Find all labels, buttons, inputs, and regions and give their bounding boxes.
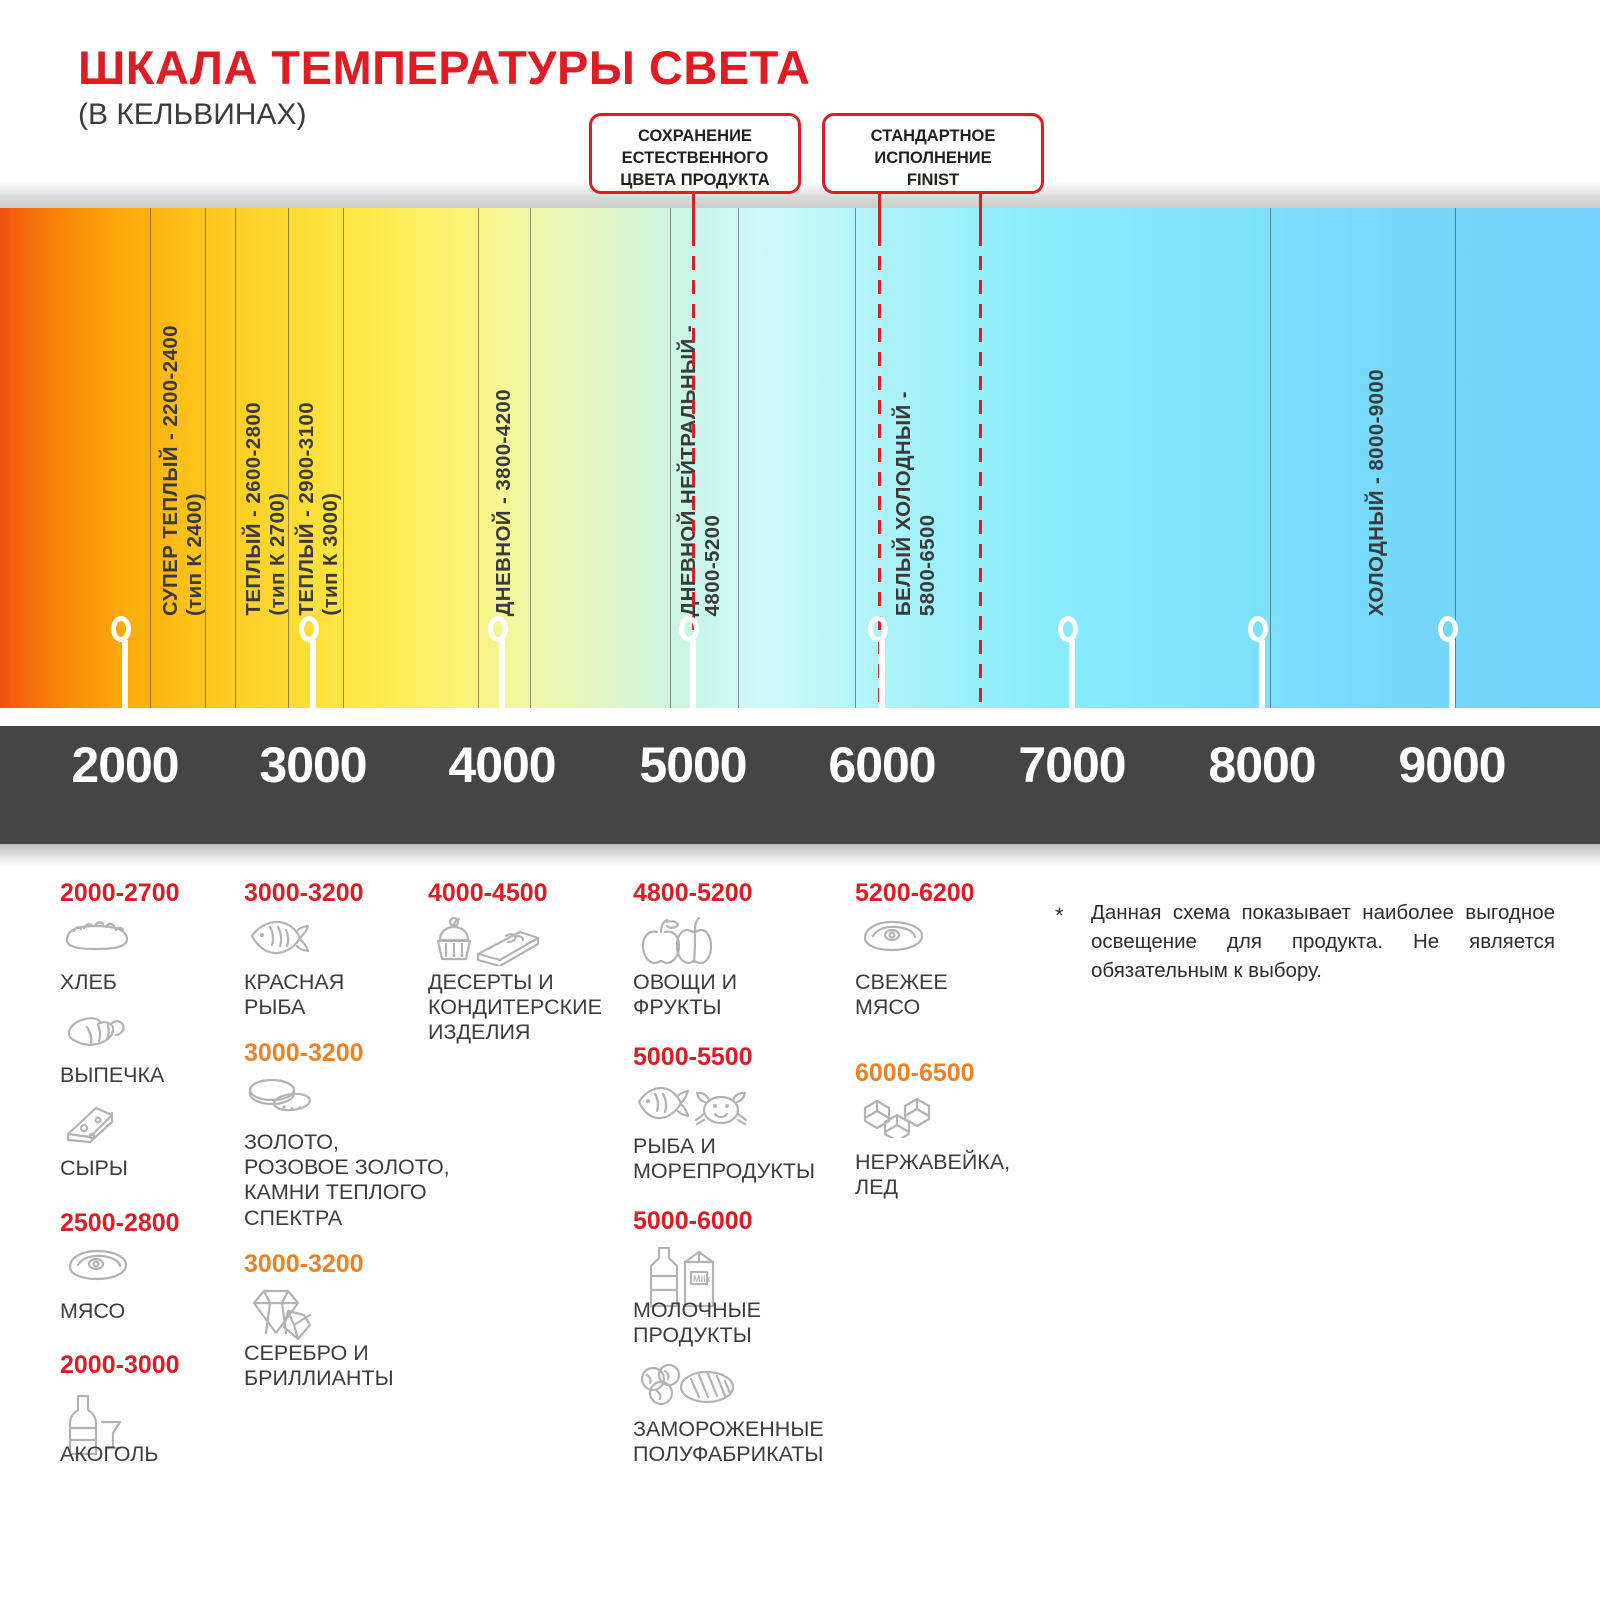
legend-item-label: СЕРЕБРО И БРИЛЛИАНТЫ bbox=[244, 1341, 484, 1392]
footnote-text: Данная схема показывает наиболее выгодно… bbox=[1091, 898, 1555, 985]
legend-item-label: ЗОЛОТО, РОЗОВОЕ ЗОЛОТО, КАМНИ ТЕПЛОГО СП… bbox=[244, 1130, 484, 1231]
legend-group: 4800-5200ОВОЩИ И ФРУКТЫ bbox=[633, 880, 858, 1020]
legend-group: 3000-3200ЗОЛОТО, РОЗОВОЕ ЗОЛОТО, КАМНИ Т… bbox=[244, 1040, 484, 1231]
page-subtitle: (В КЕЛЬВИНАХ) bbox=[78, 98, 306, 132]
legend-item-label: МЯСО bbox=[60, 1299, 235, 1324]
legend-item: ОВОЩИ И ФРУКТЫ bbox=[633, 914, 858, 1021]
tick-label: 9000 bbox=[1398, 736, 1505, 794]
tick-label: 4000 bbox=[448, 736, 555, 794]
legend-group: 5000-6000MilkМОЛОЧНЫЕ ПРОДУКТЫЗАМОРОЖЕНН… bbox=[633, 1208, 858, 1467]
tick-stem bbox=[122, 640, 128, 726]
tick-stem bbox=[1449, 640, 1455, 726]
band-divider-9 bbox=[855, 208, 856, 708]
legend-item: ХЛЕБ bbox=[60, 914, 235, 995]
range-label: 6000-6500 bbox=[855, 1060, 1050, 1088]
frozen-food-icon bbox=[633, 1361, 858, 1413]
tick-stem bbox=[1069, 640, 1075, 726]
column-3: 4000-4500ДЕСЕРТЫ И КОНДИТЕРСКИЕ ИЗДЕЛИЯ bbox=[428, 880, 633, 1058]
band-label-0: СУПЕР ТЕПЛЫЙ - 2200-2400 (тип К 2400) bbox=[159, 325, 207, 616]
legend-item: MilkМОЛОЧНЫЕ ПРОДУКТЫ bbox=[633, 1242, 858, 1349]
callout-line: ЦВЕТА ПРОДУКТА bbox=[606, 170, 784, 192]
tick-label: 8000 bbox=[1208, 736, 1315, 794]
footnote-marker: * bbox=[1055, 900, 1064, 931]
tick-circle bbox=[299, 616, 319, 642]
desserts-icon bbox=[428, 914, 633, 966]
callout-stem-1 bbox=[878, 194, 881, 242]
range-label: 5000-6000 bbox=[633, 1208, 858, 1236]
range-label: 2500-2800 bbox=[60, 1210, 235, 1238]
legend-item: ЗОЛОТО, РОЗОВОЕ ЗОЛОТО, КАМНИ ТЕПЛОГО СП… bbox=[244, 1074, 484, 1231]
range-label: 4000-4500 bbox=[428, 880, 633, 908]
tick-circle bbox=[868, 616, 888, 642]
footnote: * Данная схема показывает наиболее выгод… bbox=[1055, 898, 1555, 985]
seafood-icon bbox=[633, 1078, 858, 1130]
legend-group: 2000-3000АКОГОЛЬ bbox=[60, 1352, 235, 1467]
legend-item: НЕРЖАВЕЙКА, ЛЕД bbox=[855, 1094, 1050, 1201]
band-label-4: ДНЕВНОЙ НЕЙТРАЛЬНЫЙ - 4800-5200 bbox=[677, 325, 725, 616]
legend-group: 6000-6500НЕРЖАВЕЙКА, ЛЕД bbox=[855, 1060, 1050, 1200]
tick-stem bbox=[310, 640, 316, 726]
band-divider-2 bbox=[235, 208, 236, 708]
legend-item: ДЕСЕРТЫ И КОНДИТЕРСКИЕ ИЗДЕЛИЯ bbox=[428, 914, 633, 1046]
bread-icon bbox=[60, 914, 235, 966]
range-label: 5200-6200 bbox=[855, 880, 1050, 908]
legend-item-label: ВЫПЕЧКА bbox=[60, 1063, 235, 1088]
dairy-icon: Milk bbox=[633, 1242, 858, 1294]
callout-line: СТАНДАРТНОЕ bbox=[839, 126, 1027, 148]
tick-label: 6000 bbox=[828, 736, 935, 794]
legend-group: 3000-3200СЕРЕБРО И БРИЛЛИАНТЫ bbox=[244, 1251, 484, 1391]
product-legend: 2000-2700ХЛЕБВЫПЕЧКАСЫРЫ2500-2800МЯСО200… bbox=[0, 880, 1600, 1600]
callout-line: СОХРАНЕНИЕ bbox=[606, 126, 784, 148]
band-divider-8 bbox=[738, 208, 739, 708]
legend-item: СЫРЫ bbox=[60, 1100, 235, 1181]
range-label: 5000-5500 bbox=[633, 1044, 858, 1072]
callout-line: ЕСТЕСТВЕННОГО bbox=[606, 148, 784, 170]
tick-label: 2000 bbox=[71, 736, 178, 794]
tick-label: 3000 bbox=[259, 736, 366, 794]
ice-cubes-icon bbox=[855, 1094, 1050, 1146]
legend-item: СЕРЕБРО И БРИЛЛИАНТЫ bbox=[244, 1285, 484, 1392]
legend-item-label: СВЕЖЕЕ МЯСО bbox=[855, 970, 1050, 1021]
band-divider-5 bbox=[478, 208, 479, 708]
legend-item-label: СЫРЫ bbox=[60, 1156, 235, 1181]
legend-group: 5200-6200СВЕЖЕЕ МЯСО bbox=[855, 880, 1050, 1020]
band-divider-0 bbox=[150, 208, 151, 708]
band-divider-6 bbox=[530, 208, 531, 708]
legend-item-label: ДЕСЕРТЫ И КОНДИТЕРСКИЕ ИЗДЕЛИЯ bbox=[428, 970, 633, 1046]
legend-item: МЯСО bbox=[60, 1243, 235, 1324]
legend-group: 4000-4500ДЕСЕРТЫ И КОНДИТЕРСКИЕ ИЗДЕЛИЯ bbox=[428, 880, 633, 1046]
legend-group: 5000-5500РЫБА И МОРЕПРОДУКТЫ bbox=[633, 1044, 858, 1184]
fruits-vegetables-icon bbox=[633, 914, 858, 966]
legend-group: 2000-2700ХЛЕБВЫПЕЧКАСЫРЫ bbox=[60, 880, 235, 1182]
column-1: 2000-2700ХЛЕБВЫПЕЧКАСЫРЫ2500-2800МЯСО200… bbox=[60, 880, 235, 1479]
band-divider-7 bbox=[670, 208, 671, 708]
legend-group: 2500-2800МЯСО bbox=[60, 1210, 235, 1325]
legend-item-label: ОВОЩИ И ФРУКТЫ bbox=[633, 970, 858, 1021]
tick-circle bbox=[1248, 616, 1268, 642]
tick-circle bbox=[488, 616, 508, 642]
alcohol-icon bbox=[60, 1386, 235, 1438]
callout-stem-2 bbox=[979, 194, 982, 242]
legend-item: СВЕЖЕЕ МЯСО bbox=[855, 914, 1050, 1021]
tick-stem bbox=[1259, 640, 1265, 726]
band-label-5: БЕЛЫЙ ХОЛОДНЫЙ - 5800-6500 bbox=[892, 391, 940, 616]
band-label-3: ДНЕВНОЙ - 3800-4200 bbox=[492, 389, 516, 616]
axis-bottom-shadow bbox=[0, 844, 1600, 866]
legend-item-label: НЕРЖАВЕЙКА, ЛЕД bbox=[855, 1150, 1050, 1201]
legend-item: РЫБА И МОРЕПРОДУКТЫ bbox=[633, 1078, 858, 1185]
tick-stem bbox=[879, 640, 885, 726]
cheese-icon bbox=[60, 1100, 235, 1152]
band-label-1: ТЕПЛЫЙ - 2600-2800 (тип К 2700) bbox=[242, 402, 290, 616]
legend-item: ЗАМОРОЖЕННЫЕ ПОЛУФАБРИКАТЫ bbox=[633, 1361, 858, 1468]
tick-stem bbox=[499, 640, 505, 726]
legend-item-label: РЫБА И МОРЕПРОДУКТЫ bbox=[633, 1134, 858, 1185]
kelvin-gradient-bar bbox=[0, 208, 1600, 708]
callout-line: FINIST bbox=[839, 170, 1027, 192]
axis-dark-band bbox=[0, 726, 1600, 844]
legend-item: АКОГОЛЬ bbox=[60, 1386, 235, 1467]
tick-circle bbox=[111, 616, 131, 642]
gold-rings-icon bbox=[244, 1074, 484, 1126]
legend-item-label: ХЛЕБ bbox=[60, 970, 235, 995]
column-5: 5200-6200СВЕЖЕЕ МЯСО6000-6500НЕРЖАВЕЙКА,… bbox=[855, 880, 1050, 1212]
column-4: 4800-5200ОВОЩИ И ФРУКТЫ5000-5500РЫБА И М… bbox=[633, 880, 858, 1479]
temperature-scale: СУПЕР ТЕПЛЫЙ - 2200-2400 (тип К 2400)ТЕП… bbox=[0, 182, 1600, 862]
tick-circle bbox=[1058, 616, 1078, 642]
page-title: ШКАЛА ТЕМПЕРАТУРЫ СВЕТА bbox=[78, 40, 810, 95]
tick-stem bbox=[690, 640, 696, 726]
range-label: 2000-3000 bbox=[60, 1352, 235, 1380]
legend-item-label: ЗАМОРОЖЕННЫЕ ПОЛУФАБРИКАТЫ bbox=[633, 1417, 858, 1468]
red-dashed-line-2 bbox=[979, 208, 982, 708]
range-label: 3000-3200 bbox=[244, 1251, 484, 1279]
fresh-meat-icon bbox=[855, 914, 1050, 966]
band-divider-4 bbox=[343, 208, 344, 708]
legend-item: ВЫПЕЧКА bbox=[60, 1007, 235, 1088]
meat-icon bbox=[60, 1243, 235, 1295]
diamond-icon bbox=[244, 1285, 484, 1337]
pastry-icon bbox=[60, 1007, 235, 1059]
legend-item-label: МОЛОЧНЫЕ ПРОДУКТЫ bbox=[633, 1298, 858, 1349]
callout-stem-0 bbox=[692, 194, 695, 242]
tick-circle bbox=[679, 616, 699, 642]
range-label: 2000-2700 bbox=[60, 880, 235, 908]
band-label-2: ТЕПЛЫЙ - 2900-3100 (тип К 3000) bbox=[295, 402, 343, 616]
callout-preserve-natural-color: СОХРАНЕНИЕЕСТЕСТВЕННОГОЦВЕТА ПРОДУКТА bbox=[589, 113, 801, 194]
callout-finist-standard: СТАНДАРТНОЕИСПОЛНЕНИЕFINIST bbox=[822, 113, 1044, 194]
tick-circle bbox=[1438, 616, 1458, 642]
legend-item-label: АКОГОЛЬ bbox=[60, 1442, 235, 1467]
callout-line: ИСПОЛНЕНИЕ bbox=[839, 148, 1027, 170]
svg-text:Milk: Milk bbox=[693, 1274, 711, 1284]
tick-label: 5000 bbox=[639, 736, 746, 794]
band-divider-10 bbox=[1270, 208, 1271, 708]
range-label: 4800-5200 bbox=[633, 880, 858, 908]
band-label-6: ХОЛОДНЫЙ - 8000-9000 bbox=[1365, 369, 1389, 616]
tick-label: 7000 bbox=[1018, 736, 1125, 794]
